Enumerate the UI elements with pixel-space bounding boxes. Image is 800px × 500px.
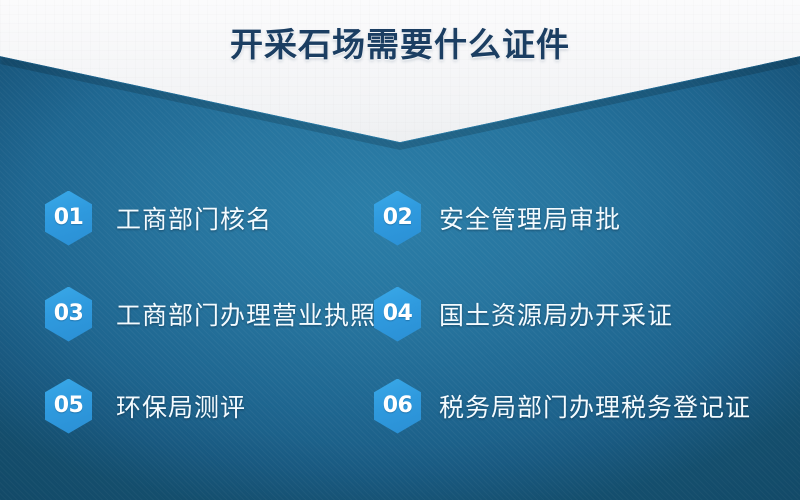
- hexagon-badge-icon: 01: [45, 191, 92, 246]
- hexagon-badge-icon: 04: [374, 287, 421, 342]
- list-row: 01 工商部门核名 02 安全管理局审批: [0, 187, 800, 249]
- badge-number: 02: [383, 207, 413, 229]
- list-item-label: 安全管理局审批: [439, 200, 621, 236]
- badge-number: 05: [54, 395, 84, 417]
- hexagon-badge-icon: 02: [374, 191, 421, 246]
- list-item[interactable]: 01 工商部门核名: [0, 187, 368, 249]
- list-row: 05 环保局测评 06 税务局部门办理税务登记证: [0, 375, 800, 437]
- certificate-list: 01 工商部门核名 02 安全管理局审批 03 工商部门办理营业执照 04: [0, 175, 800, 465]
- badge-number: 01: [54, 207, 84, 229]
- infographic-poster: 开采石场需要什么证件 01 工商部门核名 02 安全管理局审批 03 工: [0, 0, 800, 500]
- hexagon-badge-icon: 05: [45, 379, 92, 434]
- hexagon-badge-icon: 03: [45, 287, 92, 342]
- list-item-label: 税务局部门办理税务登记证: [439, 388, 751, 424]
- badge-number: 03: [54, 303, 84, 325]
- hexagon-badge-icon: 06: [374, 379, 421, 434]
- list-item-label: 工商部门核名: [116, 200, 272, 236]
- list-row: 03 工商部门办理营业执照 04 国土资源局办开采证: [0, 283, 800, 345]
- list-item[interactable]: 04 国土资源局办开采证: [368, 283, 758, 345]
- list-item[interactable]: 03 工商部门办理营业执照: [0, 283, 368, 345]
- list-item[interactable]: 05 环保局测评: [0, 375, 368, 437]
- list-item-label: 工商部门办理营业执照: [116, 296, 376, 332]
- page-title: 开采石场需要什么证件: [0, 18, 800, 66]
- list-item[interactable]: 06 税务局部门办理税务登记证: [368, 375, 758, 437]
- badge-number: 06: [383, 395, 413, 417]
- list-item-label: 环保局测评: [116, 388, 246, 424]
- badge-number: 04: [383, 303, 413, 325]
- list-item-label: 国土资源局办开采证: [439, 296, 673, 332]
- list-item[interactable]: 02 安全管理局审批: [368, 187, 758, 249]
